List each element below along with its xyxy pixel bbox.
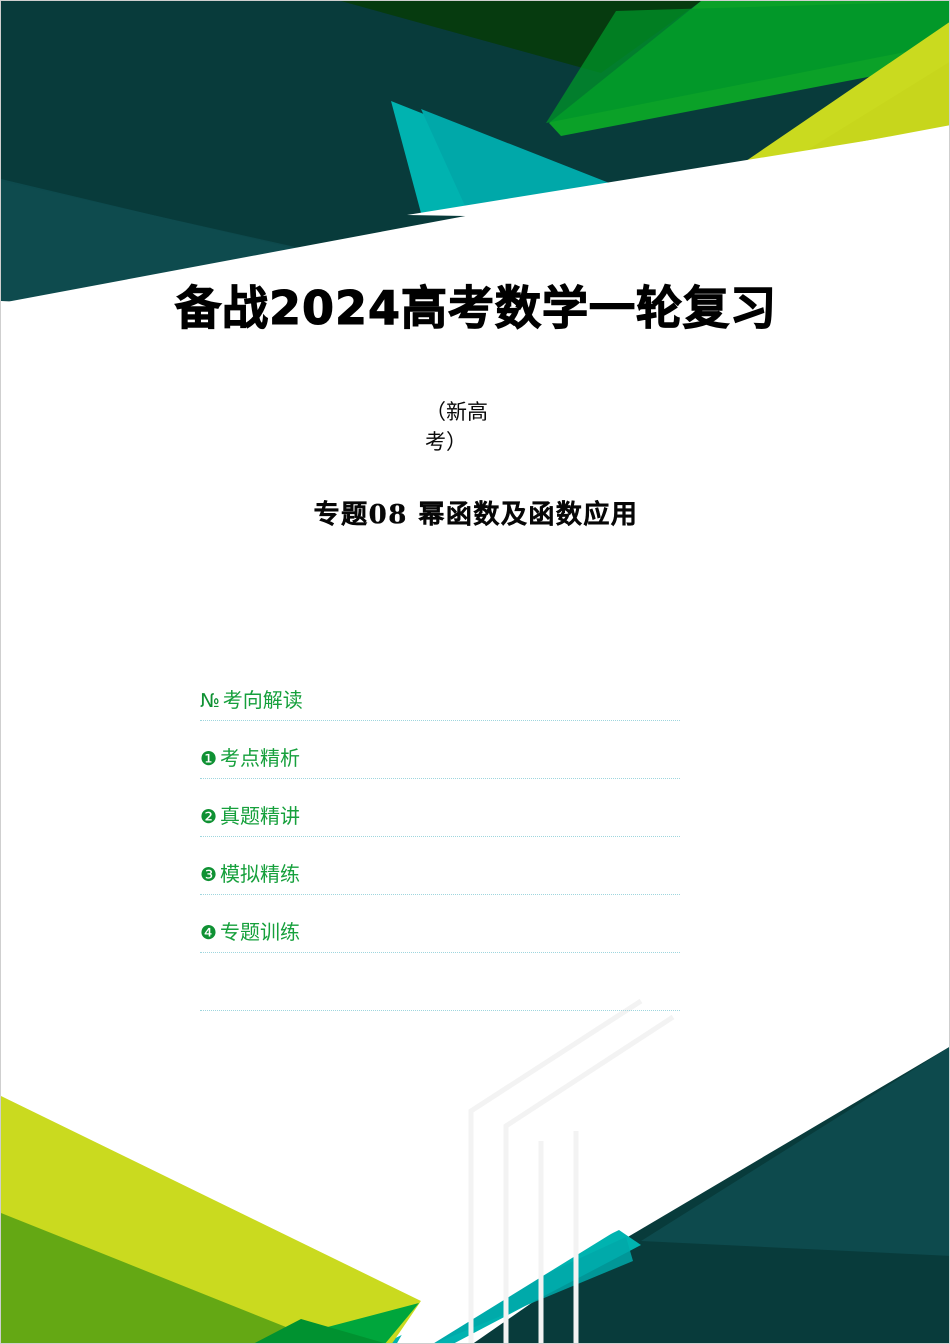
toc-marker-numero: № <box>200 690 223 712</box>
toc-item-label: ❸模拟精练 <box>200 864 300 885</box>
toc-marker-three-icon: ❸ <box>200 864 220 886</box>
toc-item-text: 真题精讲 <box>220 804 300 828</box>
toc-item-moni-jinglian[interactable]: ❸模拟精练 <box>200 837 680 895</box>
page-title: 备战2024高考数学一轮复习 <box>1 283 950 335</box>
table-of-contents: №考向解读 ❶考点精析 ❷真题精讲 ❸模拟精练 ❹专题训练 <box>200 663 680 1011</box>
toc-item-text: 模拟精练 <box>220 862 300 886</box>
toc-marker-four-icon: ❹ <box>200 922 220 944</box>
toc-marker-two-icon: ❷ <box>200 806 220 828</box>
toc-item-kaodian-jingxi[interactable]: ❶考点精析 <box>200 721 680 779</box>
toc-divider <box>200 1010 680 1011</box>
toc-item-label: ❹专题训练 <box>200 922 300 943</box>
cover-content: 备战2024高考数学一轮复习 （新高考） 专题08 幂函数及函数应用 №考向解读… <box>1 1 950 1344</box>
toc-item-label: ❶考点精析 <box>200 748 300 769</box>
cover-page: 备战2024高考数学一轮复习 （新高考） 专题08 幂函数及函数应用 №考向解读… <box>0 0 950 1344</box>
toc-marker-blank <box>200 980 203 1002</box>
toc-item-text: 考向解读 <box>223 688 303 712</box>
toc-item-zhenti-jingjiang[interactable]: ❷真题精讲 <box>200 779 680 837</box>
toc-item-text: 考点精析 <box>220 746 300 770</box>
toc-item-label: №考向解读 <box>200 690 303 711</box>
toc-item-blank <box>200 953 680 1011</box>
page-subtitle: （新高考） <box>425 397 495 458</box>
topic-heading: 专题08 幂函数及函数应用 <box>1 494 950 531</box>
toc-item-text: 专题训练 <box>220 920 300 944</box>
toc-item-zhuanti-xunlian[interactable]: ❹专题训练 <box>200 895 680 953</box>
toc-item-kaoxiang-jiedu[interactable]: №考向解读 <box>200 663 680 721</box>
toc-item-label: ❷真题精讲 <box>200 806 300 827</box>
toc-marker-one-icon: ❶ <box>200 748 220 770</box>
toc-item-label <box>200 980 203 1001</box>
